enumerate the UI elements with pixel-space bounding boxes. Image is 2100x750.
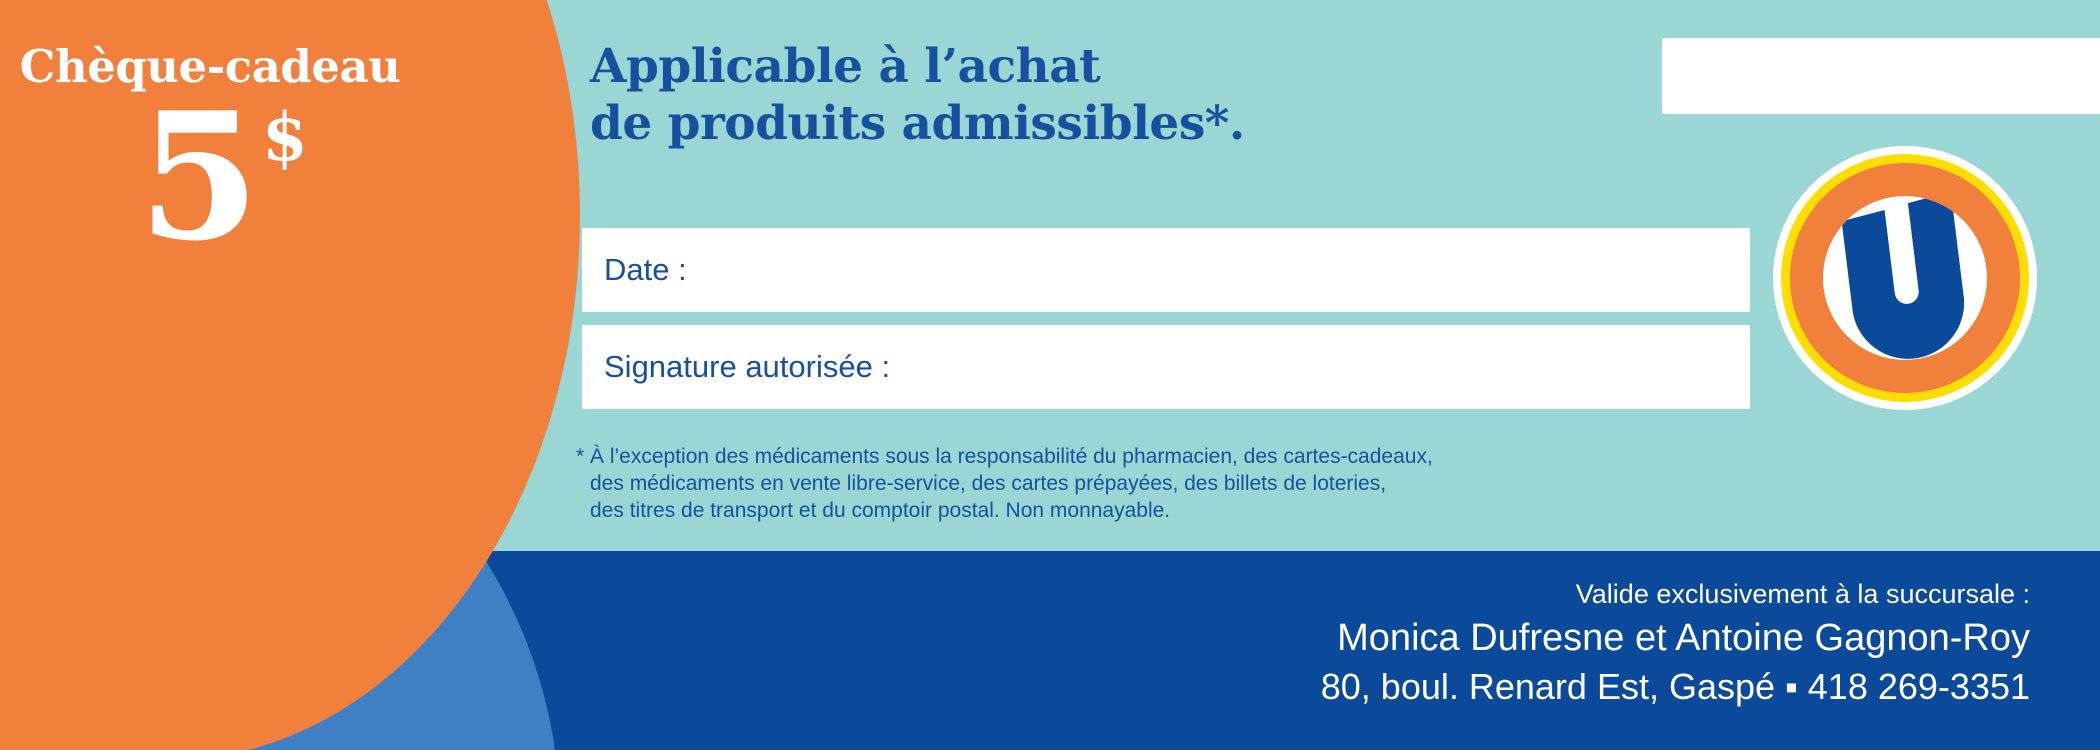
uniprix-logo <box>1773 146 2037 410</box>
voucher-amount: 5$ <box>0 90 440 265</box>
validity-label: Valide exclusivement à la succursale : <box>0 576 2030 613</box>
headline: Applicable à l’achat de produits admissi… <box>590 38 1245 152</box>
date-field-label: Date : <box>604 252 687 288</box>
signature-field-label: Signature autorisée : <box>604 349 890 385</box>
headline-line-2: de produits admissibles*. <box>590 95 1245 152</box>
footnote-line-2: des médicaments en vente libre-service, … <box>576 470 1696 497</box>
logo-u-letter-icon <box>1823 196 1987 360</box>
store-address-phone: 80, boul. Renard Est, Gaspé ▪ 418 269-33… <box>0 663 2030 711</box>
signature-field[interactable]: Signature autorisée : <box>582 325 1750 409</box>
voucher-amount-value: 5 <box>138 75 256 280</box>
date-field[interactable]: Date : <box>582 228 1750 312</box>
voucher-currency-symbol: $ <box>262 98 308 176</box>
footnote-line-3: des titres de transport et du comptoir p… <box>576 497 1696 524</box>
logo-white-disc <box>1823 196 1987 360</box>
store-owners: Monica Dufresne et Antoine Gagnon-Roy <box>0 613 2030 663</box>
footnote-line-1: À l’exception des médicaments sous la re… <box>576 443 1696 470</box>
headline-line-2-text: de produits admissibles <box>590 96 1205 151</box>
footnote: * À l’exception des médicaments sous la … <box>576 443 1696 524</box>
headline-asterisk: * <box>1205 96 1229 151</box>
voucher-left-panel: Chèque-cadeau 5$ <box>0 0 560 430</box>
headline-period: . <box>1229 96 1245 151</box>
headline-line-1: Applicable à l’achat <box>590 38 1245 95</box>
store-footer: Valide exclusivement à la succursale : M… <box>0 576 2030 711</box>
blank-write-in-strip[interactable] <box>1662 38 2100 114</box>
footnote-marker: * <box>576 443 584 470</box>
gift-certificate: Chèque-cadeau 5$ Applicable à l’achat de… <box>0 0 2100 750</box>
